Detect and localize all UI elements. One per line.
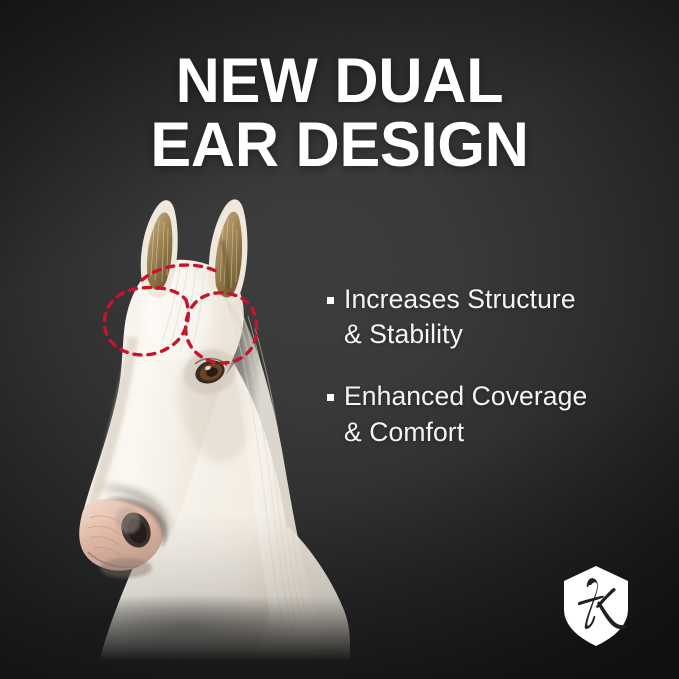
feature-list: Increases Structure & Stability Enhanced… (327, 282, 647, 477)
bullet-text: Enhanced Coverage & Comfort (344, 379, 587, 449)
bullet-line-1: Enhanced Coverage (344, 381, 587, 411)
headline-line-1: NEW DUAL (10, 50, 669, 112)
bullet-line-1: Increases Structure (344, 284, 576, 314)
bullet-text: Increases Structure & Stability (344, 282, 576, 352)
bullet-square-icon (327, 394, 334, 401)
bullet-square-icon (327, 297, 334, 304)
bullet-line-2: & Comfort (344, 417, 464, 447)
headline: NEW DUAL EAR DESIGN (0, 50, 679, 177)
horse-ground-shadow (68, 592, 308, 660)
horse-illustration (38, 196, 350, 641)
brand-logo (561, 565, 631, 647)
promo-graphic: NEW DUAL EAR DESIGN Increases Structure … (0, 0, 679, 679)
headline-line-2: EAR DESIGN (10, 114, 669, 176)
bullet-line-2: & Stability (344, 319, 463, 349)
k-shield-icon (561, 565, 631, 647)
list-item: Increases Structure & Stability (327, 282, 647, 352)
horse-image (38, 196, 350, 641)
chin-shadow (100, 558, 152, 578)
shield-shape (564, 566, 628, 646)
list-item: Enhanced Coverage & Comfort (327, 379, 647, 449)
horse-ear-right (209, 199, 248, 304)
